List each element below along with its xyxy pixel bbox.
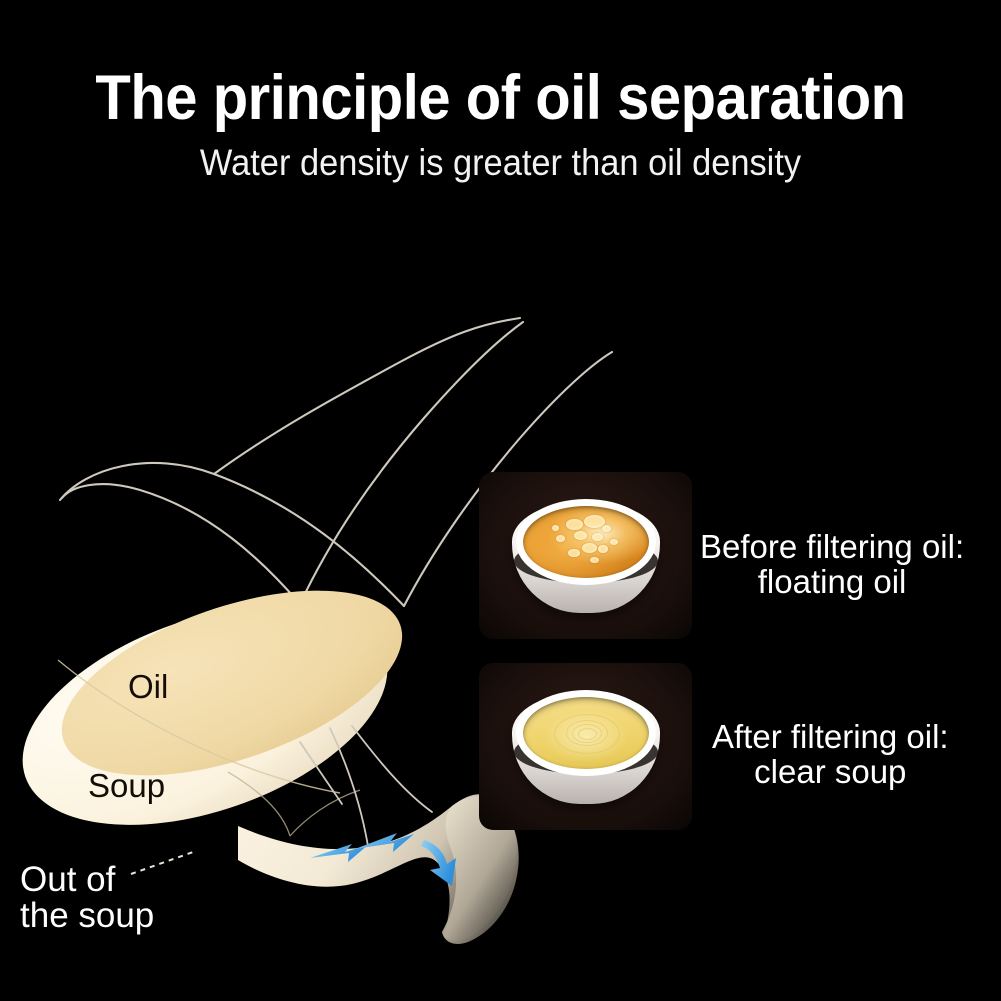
photo-panel-after: [479, 663, 692, 830]
photo-panel-before: [479, 472, 692, 639]
bowl-lip: [516, 499, 656, 585]
caption-line-2: floating oil: [700, 565, 964, 600]
caption-line-1: After filtering oil:: [712, 720, 949, 755]
infographic-canvas: The principle of oil separation Water de…: [0, 0, 1001, 1001]
bowl-after: [506, 684, 666, 810]
bowl-before: [506, 493, 666, 619]
diagram-label-out-of-the-soup: Out of the soup: [20, 862, 154, 933]
caption-line-1: Before filtering oil:: [700, 530, 964, 565]
caption-after-filtering: After filtering oil: clear soup: [712, 720, 949, 790]
bowl-lip: [516, 690, 656, 776]
callout-line-1: Out of: [20, 862, 154, 898]
callout-line-2: the soup: [20, 898, 154, 934]
caption-line-2: clear soup: [712, 755, 949, 790]
diagram-label-soup: Soup: [88, 767, 165, 805]
caption-before-filtering: Before filtering oil: floating oil: [700, 530, 964, 600]
diagram-label-oil: Oil: [128, 668, 168, 706]
